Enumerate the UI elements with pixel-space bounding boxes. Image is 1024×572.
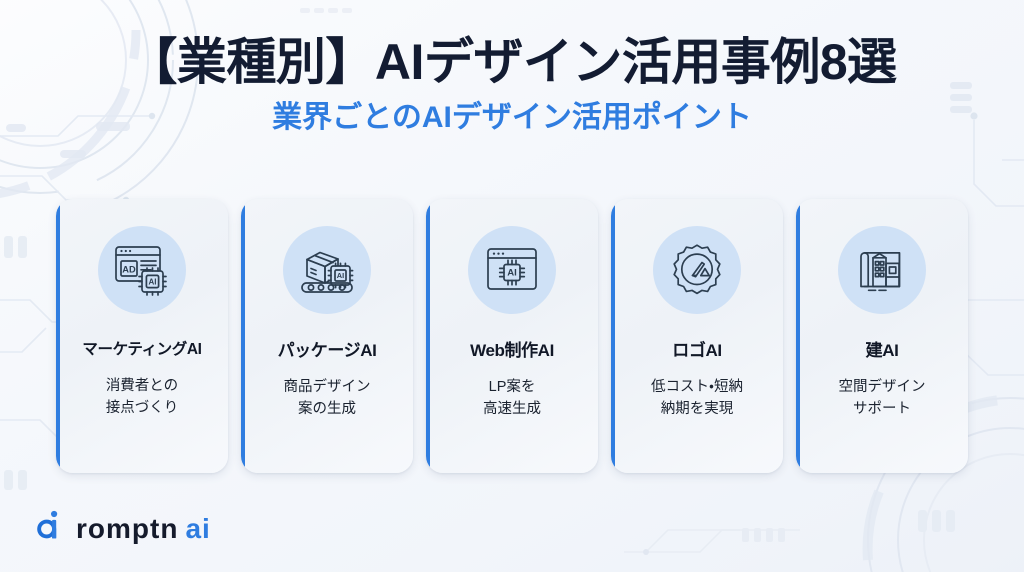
icon-circle [653,226,741,314]
card-description: 空間デザイン サポート [839,376,926,420]
card-title: Web制作AI [470,341,554,361]
card-description-line: サポート [839,398,926,420]
card-accent-bar [56,204,60,468]
brand-word-ai: ai [185,515,210,543]
card-accent-bar [611,204,615,468]
card-title: パッケージAI [278,341,377,361]
card-marketing-ai[interactable]: AD AI マーケティングAI 消費者との 接点づくり [56,199,228,473]
card-description: LP案を 高速生成 [483,376,541,420]
card-accent-bar [426,204,430,468]
package-conveyor-chip-icon: AI [297,243,357,297]
card-description-line: 低コスト・短納 [651,376,743,398]
building-blueprint-icon [853,244,911,296]
svg-text:AI: AI [507,268,517,279]
slide-canvas: 【業種別】AIデザイン活用事例8選 業界ごとのAIデザイン活用ポイント AD [0,0,1024,572]
page-title: 【業種別】AIデザイン活用事例8選 [0,34,1024,91]
card-description-line: 消費者との [106,375,179,397]
card-accent-bar [241,204,245,468]
card-description: 低コスト・短納 納期を実現 [651,376,743,420]
card-web-production-ai[interactable]: AI Web制作AI LP案を 高速生成 [426,199,598,473]
card-description-line: 納期を実現 [651,398,743,420]
brand-logo[interactable]: romptn ai [33,507,211,550]
card-accent-bar [796,204,800,468]
card-description-line: 接点づくり [106,397,179,419]
romptn-a-mark-icon [33,507,65,550]
card-description-line: LP案を [483,376,541,398]
icon-circle: AI [283,226,371,314]
icon-circle: AD AI [98,226,186,314]
card-title: ロゴAI [672,341,721,361]
badge-pen-icon [669,242,725,298]
browser-chip-icon: AI [485,245,539,295]
header: 【業種別】AIデザイン活用事例8選 業界ごとのAIデザイン活用ポイント [0,34,1024,136]
card-description-line: 空間デザイン [839,376,926,398]
ad-browser-chip-icon: AD AI [113,243,171,297]
page-subtitle: 業界ごとのAIデザイン活用ポイント [0,100,1024,136]
card-description: 商品デザイン 案の生成 [284,376,371,420]
brand-word-romptn: romptn [76,515,178,543]
brand-wordmark: romptn ai [76,515,211,543]
card-logo-ai[interactable]: ロゴAI 低コスト・短納 納期を実現 [611,199,783,473]
card-description-line: 高速生成 [483,398,541,420]
card-row: AD AI マーケティングAI 消費者との 接点づくり [56,199,968,473]
svg-text:AI: AI [337,271,344,280]
card-title: マーケティングAI [82,341,201,360]
card-description: 消費者との 接点づくり [106,375,179,419]
svg-text:AI: AI [149,277,157,286]
card-description-line: 案の生成 [284,398,371,420]
svg-text:AD: AD [122,265,136,275]
card-architecture-ai[interactable]: 建AI 空間デザイン サポート [796,199,968,473]
icon-circle: AI [468,226,556,314]
card-description-line: 商品デザイン [284,376,371,398]
icon-circle [838,226,926,314]
card-title: 建AI [866,341,899,361]
card-package-ai[interactable]: AI パッケージAI 商品デザイン 案の生成 [241,199,413,473]
